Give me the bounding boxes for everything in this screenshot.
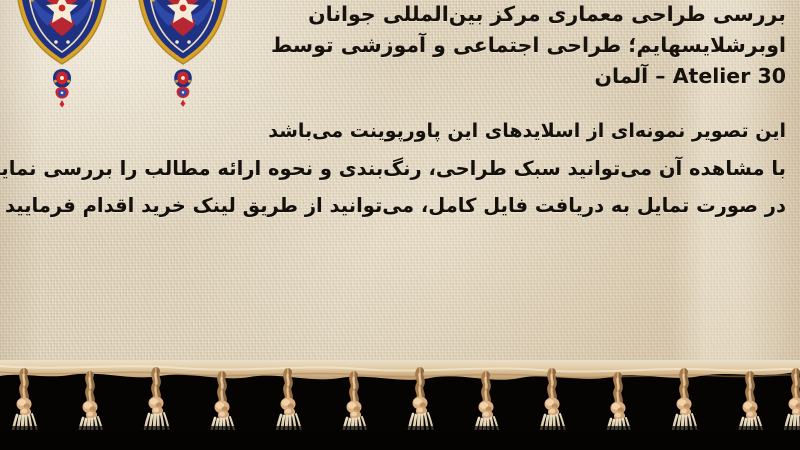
slide-text-layer: بررسی طراحی معماری مرکز بین‌المللی جوانا… <box>0 0 800 380</box>
slide-canvas: بررسی طراحی معماری مرکز بین‌المللی جوانا… <box>0 0 800 450</box>
body-line-1: این تصویر نمونه‌ای از اسلایدهای این پاور… <box>14 113 786 150</box>
slide-body: این تصویر نمونه‌ای از اسلایدهای این پاور… <box>14 113 786 224</box>
title-line-1: بررسی طراحی معماری مرکز بین‌المللی جوانا… <box>226 0 786 30</box>
title-line-2: اوبرشلایسهایم؛ طراحی اجتماعی و آموزشی تو… <box>226 30 786 61</box>
lower-black-area <box>0 430 800 450</box>
title-line-3: Atelier 30 – آلمان <box>226 61 786 92</box>
body-line-3: در صورت تمایل به دریافت فایل کامل، می‌تو… <box>14 187 786 224</box>
body-line-2: با مشاهده آن می‌توانید سبک طراحی، رنگ‌بن… <box>14 150 786 187</box>
slide-title: بررسی طراحی معماری مرکز بین‌المللی جوانا… <box>226 0 786 92</box>
